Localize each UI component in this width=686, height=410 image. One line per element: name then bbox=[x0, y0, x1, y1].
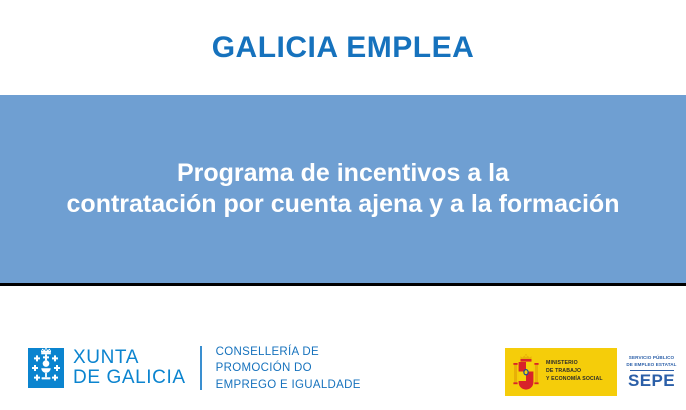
government-logos: MINISTERIO DE TRABAJO Y ECONOMÍA SOCIAL … bbox=[505, 348, 686, 396]
conselleria-line-3: EMPREGO E IGUALDADE bbox=[216, 377, 361, 393]
ministry-line-3: Y ECONOMÍA SOCIAL bbox=[546, 376, 603, 384]
logo-vertical-divider bbox=[200, 346, 202, 390]
program-title-line-2: contratación por cuenta ajena y a la for… bbox=[67, 189, 620, 220]
sepe-subtitle-line-2: DE EMPLEO ESTATAL bbox=[626, 362, 676, 369]
galicia-coat-of-arms-icon bbox=[28, 348, 64, 388]
xunta-wordmark: XUNTA DE GALICIA bbox=[73, 348, 186, 388]
sepe-logo: SERVICIO PÚBLICO DE EMPLEO ESTATAL SEPE bbox=[617, 348, 686, 396]
program-banner: Programa de incentivos a la contratación… bbox=[0, 95, 686, 283]
sepe-subtitle-line-1: SERVICIO PÚBLICO bbox=[626, 355, 676, 362]
page-header: GALICIA EMPLEA bbox=[0, 0, 686, 95]
ministry-line-1: MINISTERIO bbox=[546, 360, 603, 368]
program-title-line-1: Programa de incentivos a la bbox=[177, 158, 509, 189]
footer-logos: XUNTA DE GALICIA CONSELLERÍA DE PROMOCIÓ… bbox=[0, 286, 686, 410]
ministry-logo: MINISTERIO DE TRABAJO Y ECONOMÍA SOCIAL bbox=[505, 348, 617, 396]
xunta-wordmark-line-2: DE GALICIA bbox=[73, 368, 186, 388]
conselleria-line-2: PROMOCIÓN DO bbox=[216, 360, 361, 376]
sepe-wordmark: SEPE bbox=[628, 372, 675, 389]
ministry-name: MINISTERIO DE TRABAJO Y ECONOMÍA SOCIAL bbox=[546, 360, 603, 383]
page-title: GALICIA EMPLEA bbox=[212, 31, 475, 65]
sepe-subtitle: SERVICIO PÚBLICO DE EMPLEO ESTATAL bbox=[626, 355, 676, 368]
xunta-wordmark-line-1: XUNTA bbox=[73, 348, 186, 368]
conselleria-text: CONSELLERÍA DE PROMOCIÓN DO EMPREGO E IG… bbox=[216, 344, 361, 393]
xunta-de-galicia-logo: XUNTA DE GALICIA CONSELLERÍA DE PROMOCIÓ… bbox=[28, 344, 361, 393]
conselleria-line-1: CONSELLERÍA DE bbox=[216, 344, 361, 360]
galicia-emblem-svg bbox=[28, 348, 64, 388]
ministry-line-2: DE TRABAJO bbox=[546, 368, 603, 376]
spain-coat-of-arms-icon bbox=[513, 354, 539, 390]
